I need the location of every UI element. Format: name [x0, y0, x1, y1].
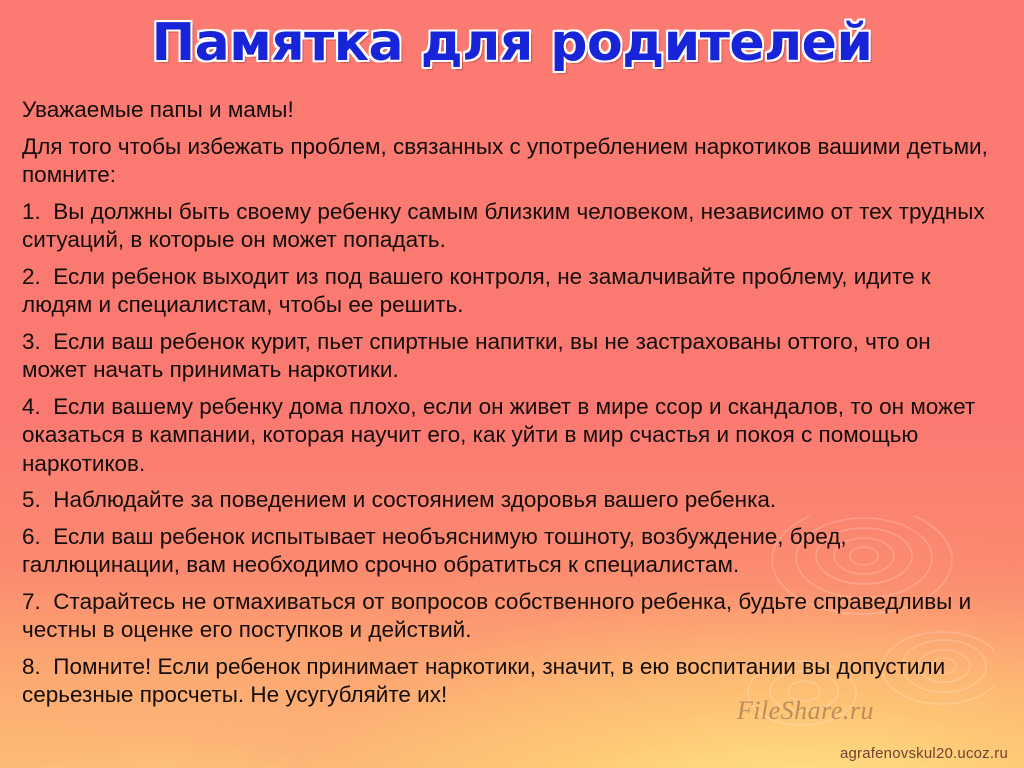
slide-body: Уважаемые папы и мамы! Для того чтобы из…	[22, 96, 997, 718]
page-title: Памятка для родителей	[0, 14, 1024, 72]
paragraph-intro: Для того чтобы избежать проблем, связанн…	[22, 133, 997, 190]
list-item-3: 3. Если ваш ребенок курит, пьет спиртные…	[22, 328, 997, 385]
watermark-url: agrafenovskul20.ucoz.ru	[840, 745, 1008, 762]
list-item-2: 2. Если ребенок выходит из под вашего ко…	[22, 263, 997, 320]
list-item-5: 5. Наблюдайте за поведением и состоянием…	[22, 486, 997, 515]
list-item-1: 1. Вы должны быть своему ребенку самым б…	[22, 198, 997, 255]
watermark-brand: FileShare.ru	[737, 696, 874, 726]
paragraph-greeting: Уважаемые папы и мамы!	[22, 96, 997, 125]
list-item-4: 4. Если вашему ребенку дома плохо, если …	[22, 393, 997, 479]
list-item-7: 7. Старайтесь не отмахиваться от вопросо…	[22, 588, 997, 645]
slide-canvas: Памятка для родителей Уважаемые папы и м…	[0, 0, 1024, 768]
list-item-6: 6. Если ваш ребенок испытывает необъясни…	[22, 523, 997, 580]
